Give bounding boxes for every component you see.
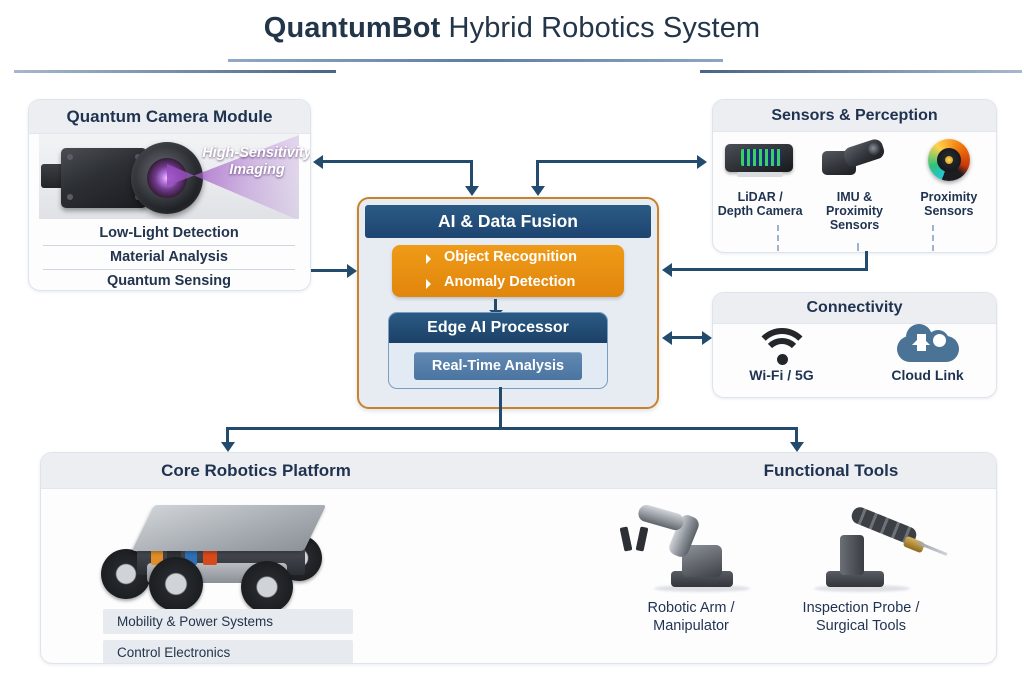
tools-panel-title: Functional Tools	[686, 453, 976, 488]
wifi-icon	[753, 326, 811, 366]
list-item-inspection-probe[interactable]: Inspection Probe / Surgical Tools	[786, 501, 936, 635]
list-item[interactable]: Quantum Sensing	[43, 269, 295, 291]
list-item[interactable]: Low-Light Detection	[43, 222, 295, 245]
list-item-cloud[interactable]: Cloud Link	[878, 326, 978, 383]
connector-ai-to-sensors-vertical	[536, 160, 539, 188]
connector-camera-right-to-ai	[311, 269, 349, 272]
connector-camera-to-ai-vertical	[470, 160, 473, 188]
quantum-camera-module-panel[interactable]: Quantum Camera Module High-Sensitivity I…	[28, 99, 311, 291]
platform-label-list: Mobility & Power Systems Control Electro…	[103, 609, 353, 664]
connector-arrowhead-ai-in-left	[347, 264, 357, 278]
sensors-panel-title: Sensors & Perception	[713, 100, 996, 132]
rover-robot-icon	[91, 501, 371, 601]
page-title-brand: QuantumBot	[264, 12, 441, 44]
sensor-dashed-leg-1	[777, 225, 779, 251]
sensor-label-line2: Sensors	[924, 204, 973, 218]
connector-arrowhead-to-tools	[790, 442, 804, 452]
list-item[interactable]: Object Recognition	[392, 245, 624, 270]
ai-functions-box[interactable]: Object Recognition Anomaly Detection	[392, 245, 624, 297]
connector-arrowhead-into-ai-left	[465, 186, 479, 196]
list-item-proximity[interactable]: Proximity Sensors	[903, 134, 995, 232]
tool-label-line2: Surgical Tools	[816, 618, 906, 634]
tool-label-line2: Manipulator	[653, 618, 729, 634]
connector-ai-to-sensors-horizontal	[536, 160, 699, 163]
connector-arrowhead-into-ai-right	[531, 186, 545, 196]
bottom-panel-header: Core Robotics Platform Functional Tools	[41, 453, 996, 489]
lidar-icon	[725, 142, 795, 178]
connectivity-list: Wi-Fi / 5G Cloud Link	[713, 326, 996, 383]
connector-arrowhead-to-sensors	[697, 155, 707, 169]
connector-bottom-split-bar	[226, 427, 798, 430]
edge-processor-title: Edge AI Processor	[389, 313, 607, 343]
connectivity-label: Cloud Link	[878, 367, 978, 383]
list-item-robotic-arm[interactable]: Robotic Arm / Manipulator	[616, 501, 766, 635]
connector-camera-to-ai-horizontal	[323, 160, 473, 163]
sensor-dashed-leg-3	[932, 225, 934, 251]
sensor-label-line2: Depth Camera	[718, 204, 803, 218]
platform-panel-title: Core Robotics Platform	[116, 453, 396, 488]
sensor-list: LiDAR / Depth Camera IMU & Proximity Sen…	[713, 134, 996, 232]
connector-arrowhead-to-ai-from-connectivity	[662, 331, 672, 345]
proximity-sensor-icon	[928, 139, 970, 181]
list-item-imu[interactable]: IMU & Proximity Sensors	[808, 134, 900, 232]
connector-arrowhead-to-platform	[221, 442, 235, 452]
real-time-analysis-chip[interactable]: Real-Time Analysis	[414, 352, 582, 380]
list-item-wifi[interactable]: Wi-Fi / 5G	[732, 326, 832, 383]
page-title-rest: Hybrid Robotics System	[440, 12, 760, 44]
tool-label-line1: Inspection Probe /	[803, 600, 920, 616]
title-underline	[228, 59, 723, 62]
list-item[interactable]: Mobility & Power Systems	[103, 609, 353, 634]
connector-arrowhead-to-camera	[313, 155, 323, 169]
inspection-probe-icon	[786, 501, 936, 593]
sensor-label-line2: Proximity	[826, 204, 883, 218]
camera-image-caption: High-Sensitivity Imaging	[197, 145, 311, 179]
connector-arrowhead-to-connectivity	[702, 331, 712, 345]
sensors-perception-panel[interactable]: Sensors & Perception LiDAR / Depth Camer…	[712, 99, 997, 253]
tool-label-line1: Robotic Arm /	[647, 600, 734, 616]
connectivity-panel[interactable]: Connectivity Wi-Fi / 5G Cloud Link	[712, 292, 997, 398]
page-title: QuantumBot Hybrid Robotics System	[0, 12, 1024, 45]
platform-and-tools-panel[interactable]: Core Robotics Platform Functional Tools …	[40, 452, 997, 664]
sensor-label-line1: LiDAR /	[738, 190, 783, 204]
sensor-label-line1: IMU &	[837, 190, 872, 204]
sensor-label-line1: Proximity	[920, 190, 977, 204]
header-rule-left	[14, 70, 336, 73]
cloud-icon	[897, 326, 959, 366]
sensor-dashed-leg-2	[857, 243, 859, 251]
camera-feature-list: Low-Light Detection Material Analysis Qu…	[43, 222, 295, 291]
connectivity-panel-title: Connectivity	[713, 293, 996, 324]
list-item[interactable]: Anomaly Detection	[392, 270, 624, 295]
connector-sensors-to-ai-horizontal	[672, 268, 868, 271]
imu-camera-icon	[822, 141, 886, 179]
list-item[interactable]: Control Electronics	[103, 640, 353, 664]
header-rule-right	[700, 70, 1022, 73]
diagram-canvas: QuantumBot Hybrid Robotics System Quantu…	[0, 0, 1024, 683]
camera-panel-title: Quantum Camera Module	[29, 100, 310, 134]
edge-ai-processor-box[interactable]: Edge AI Processor Real-Time Analysis	[388, 312, 608, 389]
robotic-arm-icon	[616, 501, 766, 593]
connector-ai-down-trunk	[499, 387, 502, 429]
connector-arrowhead-ai-in-right	[662, 263, 672, 277]
list-item[interactable]: Material Analysis	[43, 245, 295, 269]
ai-panel-title: AI & Data Fusion	[365, 205, 651, 238]
sensor-label-line3: Sensors	[830, 218, 879, 232]
list-item-lidar[interactable]: LiDAR / Depth Camera	[714, 134, 806, 232]
